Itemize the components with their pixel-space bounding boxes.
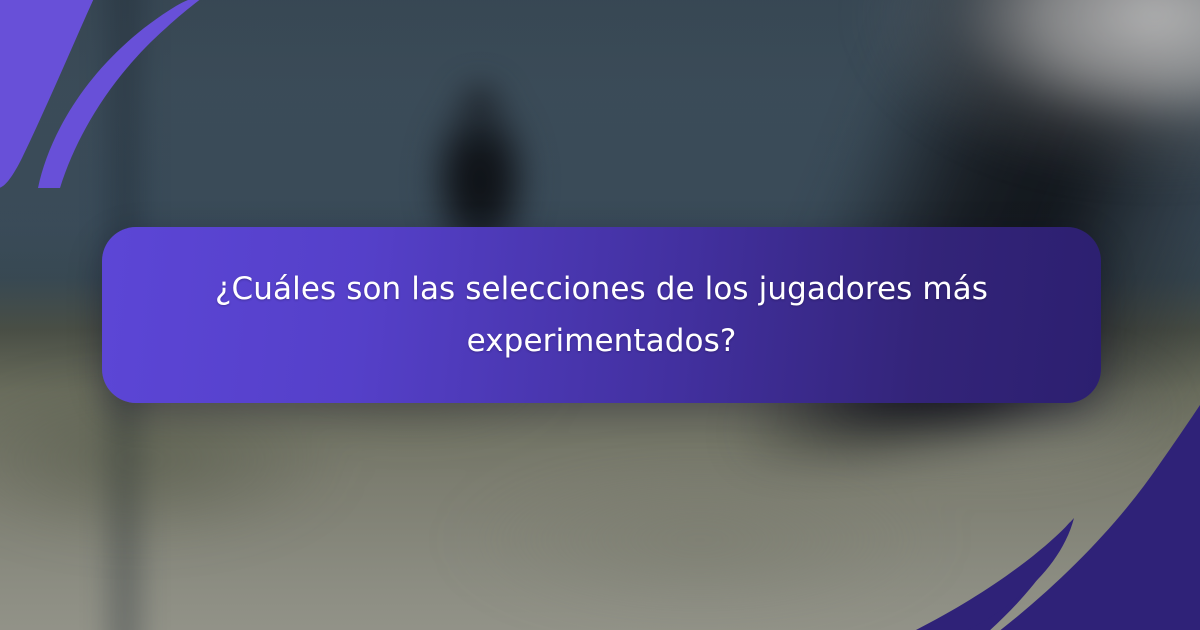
swoosh-arc-icon [0, 0, 208, 188]
social-preview-card: ¿Cuáles son las selecciones de los jugad… [0, 0, 1200, 630]
question-card: ¿Cuáles son las selecciones de los jugad… [102, 227, 1101, 403]
swoosh-arc-icon-bottom-right [902, 372, 1200, 630]
swoosh-arc-icon-top-left [0, 0, 208, 188]
question-text: ¿Cuáles son las selecciones de los jugad… [202, 263, 1002, 367]
swoosh-arc-icon [902, 372, 1200, 630]
